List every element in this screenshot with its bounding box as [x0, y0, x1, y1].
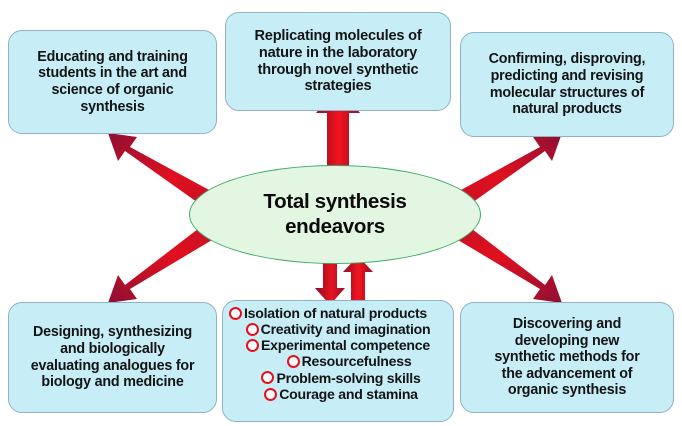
center-node-total-synthesis[interactable]: Total synthesis endeavors [189, 165, 481, 264]
skills-list-item-label: Experimental competence [261, 338, 430, 353]
node-designing-analogues-label: Designing, synthesizing and biologically… [9, 324, 216, 390]
node-educating-training[interactable]: Educating and training students in the a… [8, 30, 217, 134]
skills-list-item-label: Courage and stamina [279, 387, 418, 402]
bullet-circle-icon [229, 307, 242, 320]
skills-list-item: Isolation of natural products [227, 306, 449, 321]
node-designing-analogues[interactable]: Designing, synthesizing and biologically… [8, 302, 217, 413]
bullet-circle-icon [287, 355, 300, 368]
node-confirming-structures[interactable]: Confirming, disproving, predicting and r… [460, 32, 674, 137]
skills-list-item: Experimental competence [227, 338, 449, 353]
bullet-circle-icon [261, 371, 274, 384]
skills-list-item: Resourcefulness [227, 354, 449, 369]
skills-list-item-label: Creativity and imagination [261, 322, 431, 337]
skills-list-item-label: Problem-solving skills [276, 371, 420, 386]
skills-bullet-list: Isolation of natural productsCreativity … [223, 301, 453, 403]
skills-list-item: Courage and stamina [227, 387, 449, 402]
bullet-circle-icon [246, 339, 259, 352]
node-replicating-molecules[interactable]: Replicating molecules of nature in the l… [225, 12, 451, 111]
center-node-label: Total synthesis endeavors [263, 190, 406, 238]
skills-list-item-label: Resourcefulness [302, 354, 412, 369]
node-skills-and-qualities[interactable]: Isolation of natural productsCreativity … [222, 300, 454, 422]
node-educating-training-label: Educating and training students in the a… [9, 49, 216, 115]
arrow-to-skills [315, 262, 345, 305]
diagram-canvas: Educating and training students in the a… [0, 0, 682, 426]
skills-list-item: Problem-solving skills [227, 371, 449, 386]
skills-list-item: Creativity and imagination [227, 322, 449, 337]
skills-list-item-label: Isolation of natural products [244, 306, 427, 321]
node-discovering-methods-label: Discovering and developing new synthetic… [461, 316, 673, 399]
node-discovering-methods[interactable]: Discovering and developing new synthetic… [460, 302, 674, 413]
node-replicating-molecules-label: Replicating molecules of nature in the l… [226, 28, 450, 96]
bullet-circle-icon [264, 388, 277, 401]
node-confirming-structures-label: Confirming, disproving, predicting and r… [461, 51, 673, 117]
bullet-circle-icon [246, 323, 259, 336]
